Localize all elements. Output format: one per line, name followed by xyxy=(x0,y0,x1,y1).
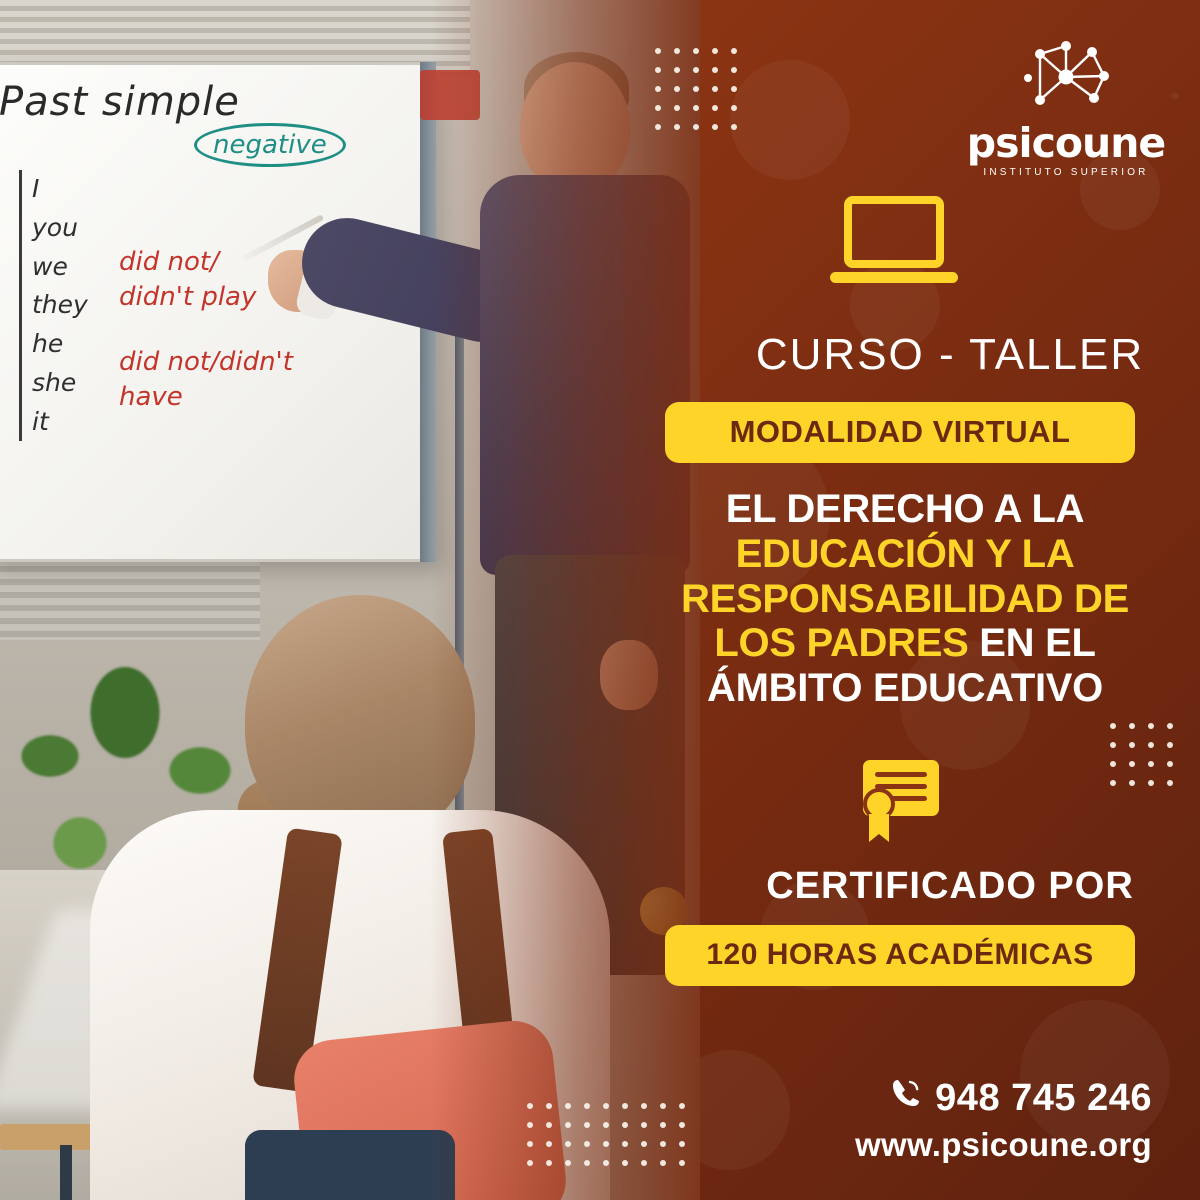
whiteboard-circled-word: negative xyxy=(194,123,346,167)
phone-icon xyxy=(889,1076,923,1120)
headline-line-4-rest: EN EL xyxy=(968,621,1095,665)
poster: Past simple negative I you we they he sh… xyxy=(0,0,1200,1200)
dot-grid-right xyxy=(1110,723,1173,786)
whiteboard-title: Past simple xyxy=(0,79,240,125)
molecule-icon xyxy=(966,38,1166,121)
headline-line-1: EL DERECHO A LA xyxy=(640,487,1170,532)
website-link[interactable]: www.psicoune.org xyxy=(855,1126,1152,1164)
brand-tagline: INSTITUTO SUPERIOR xyxy=(966,167,1166,178)
whiteboard-pronouns: I you we they he she it xyxy=(19,170,88,441)
dot-grid-top xyxy=(655,48,737,130)
modality-badge: MODALIDAD VIRTUAL xyxy=(665,402,1135,463)
laptop-icon xyxy=(830,196,958,297)
course-type-label: CURSO - TALLER xyxy=(700,330,1200,380)
headline-line-3: RESPONSABILIDAD DE xyxy=(640,577,1170,622)
desk-leg xyxy=(60,1145,72,1200)
brand-logo: psicoune INSTITUTO SUPERIOR xyxy=(966,38,1166,178)
phone-number: 948 745 246 xyxy=(935,1077,1152,1120)
whiteboard-line-2: did not/didn't have xyxy=(119,345,293,415)
whiteboard-line-1: did not/ didn't play xyxy=(119,245,256,315)
hours-badge: 120 HORAS ACADÉMICAS xyxy=(665,925,1135,986)
headline-line-5: ÁMBITO EDUCATIVO xyxy=(640,666,1170,711)
phone-row[interactable]: 948 745 246 xyxy=(855,1076,1152,1120)
dot-grid-bottom xyxy=(527,1103,685,1166)
certificate-icon xyxy=(855,758,947,851)
brand-name: psicoune xyxy=(966,123,1166,164)
certified-label: CERTIFICADO POR xyxy=(700,865,1200,908)
chair-back xyxy=(245,1130,455,1200)
contact-block: 948 745 246 www.psicoune.org xyxy=(855,1076,1152,1164)
headline-line-2: EDUCACIÓN Y LA xyxy=(640,532,1170,577)
headline-line-4-highlight: LOS PADRES xyxy=(714,621,968,665)
headline-line-4: LOS PADRES EN EL xyxy=(640,621,1170,666)
headline: EL DERECHO A LA EDUCACIÓN Y LA RESPONSAB… xyxy=(640,487,1170,711)
